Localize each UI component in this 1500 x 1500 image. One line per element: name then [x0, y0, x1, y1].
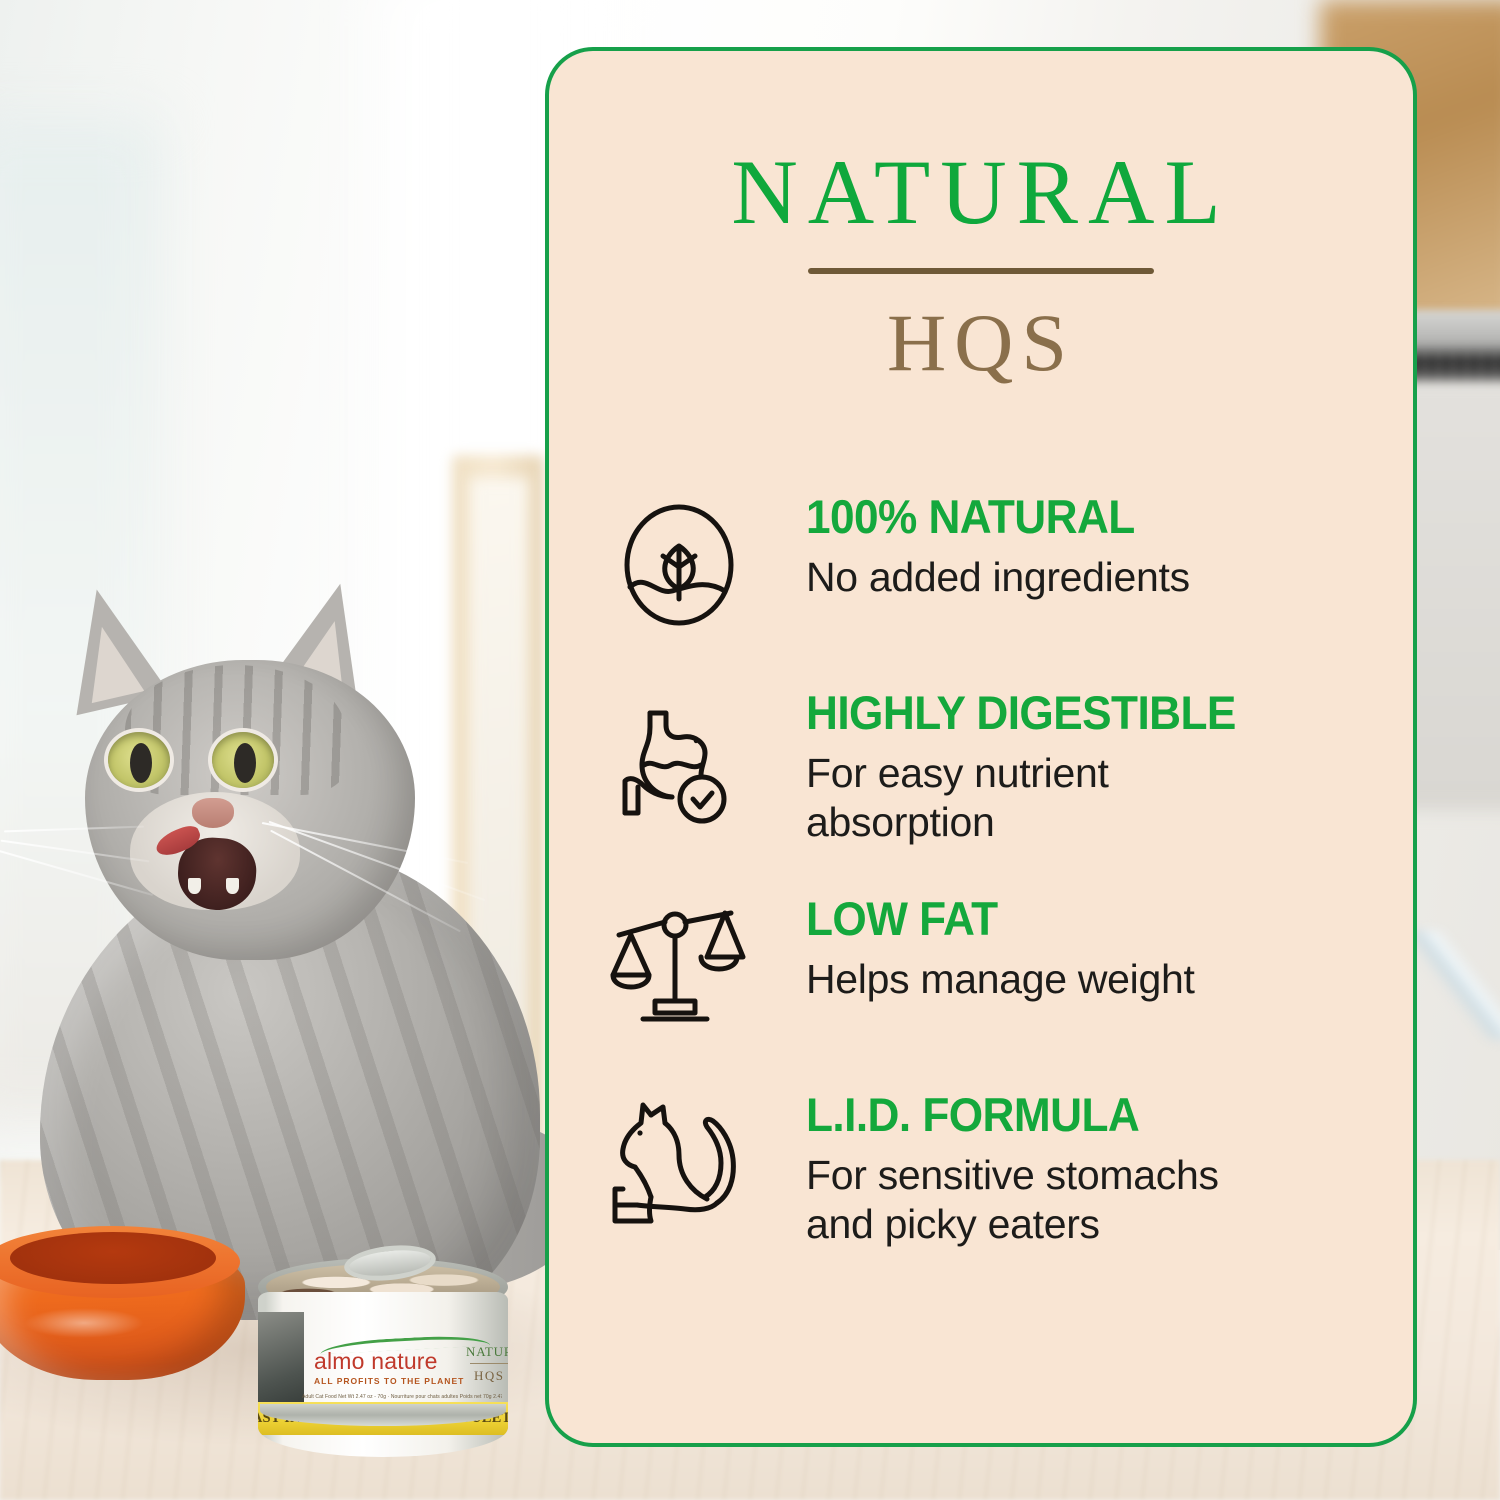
- benefit-description-line-1: For sensitive stomachs: [806, 1152, 1219, 1198]
- benefit-description: Helps manage weight: [806, 955, 1373, 1004]
- benefit-text-digestible: HIGHLY DIGESTIBLE For easy nutrient abso…: [754, 687, 1373, 847]
- can-range-divider: [470, 1363, 508, 1364]
- brand-header: NATURAL HQS: [549, 146, 1413, 384]
- benefit-item-natural: 100% NATURAL No added ingredients: [549, 491, 1413, 641]
- cat-photo-subject: [10, 560, 570, 1320]
- benefits-panel: NATURAL HQS 100% NATURAL: [545, 47, 1417, 1447]
- benefit-description-line-1: For easy nutrient: [806, 750, 1109, 796]
- cat-tooth: [188, 878, 201, 894]
- can-fineprint: Adult Cat Food Net Wt 2.47 oz - 70g · No…: [302, 1394, 502, 1400]
- benefit-description: For easy nutrient absorption: [806, 749, 1373, 847]
- product-can: almo nature ALL PROFITS TO THE PLANET NA…: [252, 1258, 514, 1470]
- orange-food-bowl: [0, 1222, 245, 1397]
- benefit-title: HIGHLY DIGESTIBLE: [806, 689, 1339, 738]
- benefit-text-natural: 100% NATURAL No added ingredients: [754, 491, 1373, 602]
- cat-pupil-right: [234, 743, 256, 783]
- benefit-title: L.I.D. FORMULA: [806, 1091, 1339, 1140]
- benefit-description: No added ingredients: [806, 553, 1373, 602]
- benefit-title: LOW FAT: [806, 895, 1339, 944]
- can-range-hqs: HQS: [474, 1368, 508, 1384]
- can-label: almo nature ALL PROFITS TO THE PLANET NA…: [258, 1292, 508, 1457]
- benefit-description-line-2: absorption: [806, 798, 1373, 847]
- leaf-in-circle-icon: [604, 491, 754, 631]
- benefit-title: 100% NATURAL: [806, 493, 1339, 542]
- benefit-description-line-1: Helps manage weight: [806, 956, 1195, 1002]
- product-feature-image: almo nature ALL PROFITS TO THE PLANET NA…: [0, 0, 1500, 1500]
- cat-pupil-left: [130, 743, 152, 783]
- brand-title-natural: NATURAL: [549, 146, 1413, 238]
- can-tagline: ALL PROFITS TO THE PLANET: [314, 1376, 474, 1386]
- benefit-description-line-2: and picky eaters: [806, 1200, 1373, 1249]
- brand-divider: [808, 268, 1154, 274]
- benefit-item-digestible: HIGHLY DIGESTIBLE For easy nutrient abso…: [549, 687, 1413, 847]
- stomach-check-icon: [604, 687, 754, 835]
- balance-scale-icon: [604, 893, 754, 1025]
- can-range-natural: NATURAL: [466, 1344, 508, 1360]
- can-brand-name: almo nature: [314, 1348, 466, 1375]
- benefit-description: For sensitive stomachs and picky eaters: [806, 1151, 1373, 1249]
- benefits-list: 100% NATURAL No added ingredients: [549, 491, 1413, 1296]
- cat-nose: [192, 798, 234, 828]
- sitting-cat-icon: [604, 1089, 754, 1237]
- benefit-item-low-fat: LOW FAT Helps manage weight: [549, 893, 1413, 1043]
- bowl-highlight: [24, 1308, 144, 1338]
- benefit-description-line-1: No added ingredients: [806, 554, 1190, 600]
- benefit-text-lid-formula: L.I.D. FORMULA For sensitive stomachs an…: [754, 1089, 1373, 1249]
- benefit-item-lid-formula: L.I.D. FORMULA For sensitive stomachs an…: [549, 1089, 1413, 1249]
- brand-title-hqs: HQS: [549, 302, 1413, 384]
- cat-tooth: [226, 878, 239, 894]
- bowl-interior: [10, 1232, 216, 1284]
- benefit-text-low-fat: LOW FAT Helps manage weight: [754, 893, 1373, 1004]
